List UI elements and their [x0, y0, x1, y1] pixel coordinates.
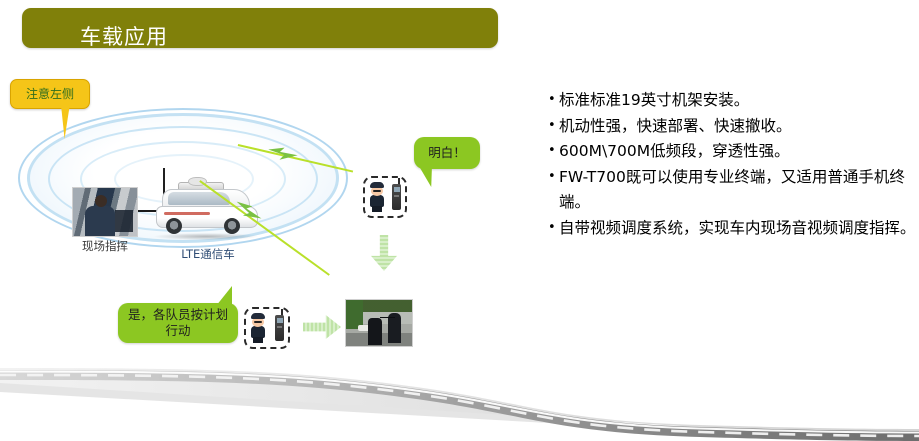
van-wheel	[166, 218, 182, 234]
callout-attention-left-text: 注意左侧	[11, 85, 89, 102]
police-officer-icon	[369, 182, 385, 212]
bullet-item: FW-T700既可以使用专业终端，又适用普通手机终端。	[548, 165, 916, 216]
police-officer-icon	[250, 313, 266, 343]
bullet-item: 600M\700M低频段，穿透性强。	[548, 139, 916, 165]
terminal-user-group	[363, 176, 407, 218]
callout-team-action: 是，各队员按计划 行动	[118, 303, 238, 343]
bullet-item: 机动性强，快速部署、快速撤收。	[548, 114, 916, 140]
feature-bullet-list: 标准标准19英寸机架安装。 机动性强，快速部署、快速撤收。 600M\700M低…	[548, 88, 916, 241]
console-panel	[115, 210, 133, 232]
caption-commander: 现场指挥	[63, 238, 147, 254]
swat-operation-photo	[345, 299, 413, 347]
van-shadow	[154, 233, 258, 240]
bullet-item: 标准标准19英寸机架安装。	[548, 88, 916, 114]
caption-lte-van: LTE通信车	[148, 246, 268, 262]
callout-understood-text: 明白！	[414, 137, 480, 169]
slide-title-bar: 车载应用	[22, 8, 498, 48]
road-svg	[0, 352, 919, 441]
walkie-talkie-icon	[275, 315, 284, 341]
road-graphic	[0, 352, 919, 441]
page-title: 车载应用	[80, 21, 168, 51]
commander-photo	[72, 187, 138, 237]
walkie-talkie-icon	[392, 184, 401, 210]
slide-canvas: 车载应用 标准标准19英寸机架安装。 机动性强，快速部署、快速撤收。 600M\…	[0, 0, 919, 441]
van-wheel	[224, 218, 240, 234]
photo-rifle	[380, 317, 395, 319]
photo-officer	[368, 318, 381, 345]
terminal-user-group	[244, 307, 290, 349]
callout-attention-left: 注意左侧	[10, 79, 90, 109]
van-stripe	[164, 212, 210, 215]
callout-understood: 明白！	[414, 137, 480, 169]
callout-team-action-text: 是，各队员按计划 行动	[118, 303, 238, 343]
commander-head	[95, 195, 107, 207]
commander-body	[85, 206, 115, 236]
bullet-item: 自带视频调度系统，实现车内现场音视频调度指挥。	[548, 216, 916, 242]
